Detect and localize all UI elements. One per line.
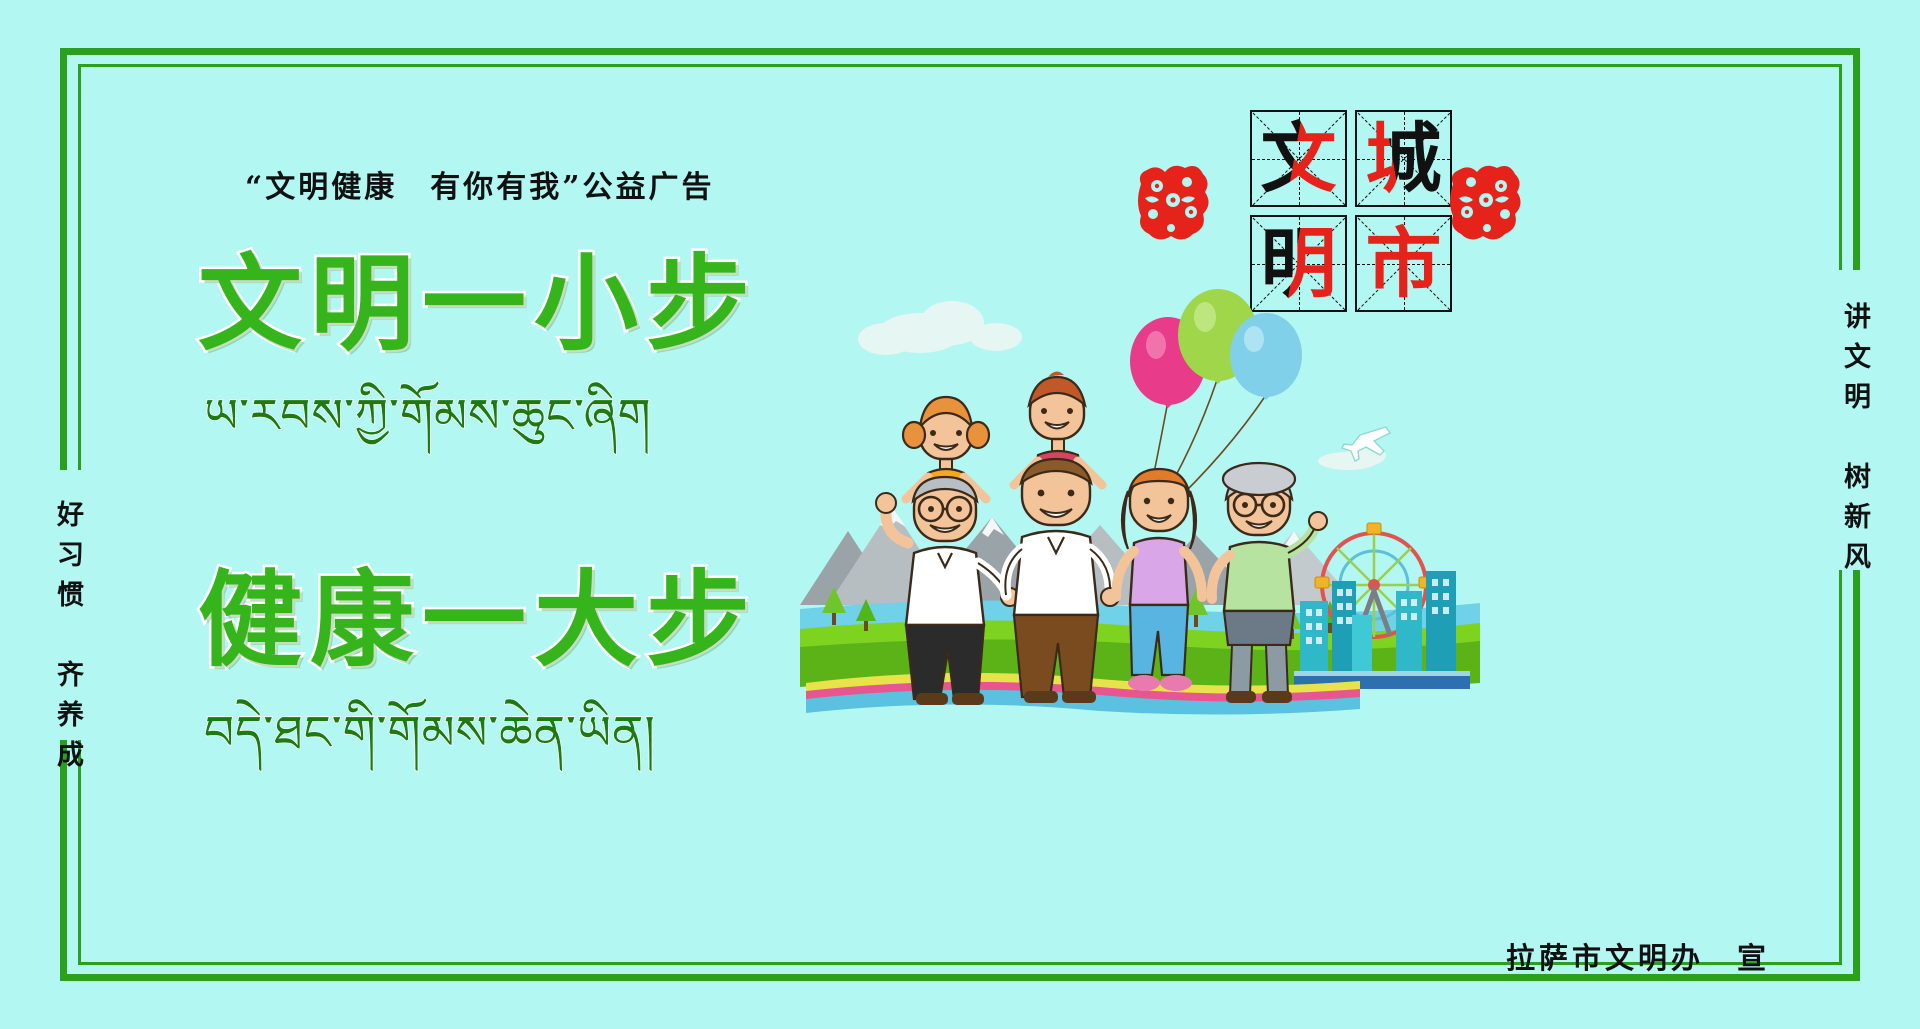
logo-char-4: 市 <box>1357 217 1450 310</box>
headline-line-2-tibetan: བདེ་ཐང་གི་གོམས་ཆེན་ཡིན། <box>204 681 758 813</box>
logo-char-3: 明 <box>1252 217 1345 310</box>
papercut-ornament-left-icon <box>1135 160 1213 246</box>
side-slogan-left: 好习惯 齐养成 <box>48 500 87 780</box>
logo-character-grid: 文 城 明 市 <box>1250 110 1452 312</box>
side-slogan-right: 讲文明 树新风 <box>1835 302 1874 582</box>
logo-cell-4: 市 <box>1355 215 1452 312</box>
headline-line-1-tibetan: ཡ་རབས་ཀྱི་གོམས་ཆུང་ཞིག <box>204 364 758 496</box>
logo-char-2: 城 <box>1357 112 1450 205</box>
campaign-tagline: “文明健康 有你有我”公益广告 <box>245 162 715 206</box>
issuer-signature: 拉萨市文明办 宣 <box>1506 935 1770 977</box>
papercut-ornament-right-icon <box>1447 160 1525 246</box>
headline-line-2: 健康一大步 <box>198 564 758 676</box>
cloud-icon <box>858 301 1022 355</box>
logo-cell-3: 明 <box>1250 215 1347 312</box>
civilized-city-logo: 文 城 明 市 <box>1135 110 1525 310</box>
logo-char-1: 文 <box>1252 112 1345 205</box>
balloon-blue <box>1230 313 1302 400</box>
headline-block: 文明一小步 ཡ་རབས་ཀྱི་གོམས་ཆུང་ཞིག 健康一大步 བདེ་ཐ… <box>198 248 758 813</box>
poster-canvas: “文明健康 有你有我”公益广告 文明一小步 ཡ་རབས་ཀྱི་གོམས་ཆུང… <box>0 0 1920 1029</box>
headline-line-1: 文明一小步 <box>198 248 758 360</box>
family-illustration <box>800 285 1480 715</box>
logo-cell-2: 城 <box>1355 110 1452 207</box>
logo-cell-1: 文 <box>1250 110 1347 207</box>
